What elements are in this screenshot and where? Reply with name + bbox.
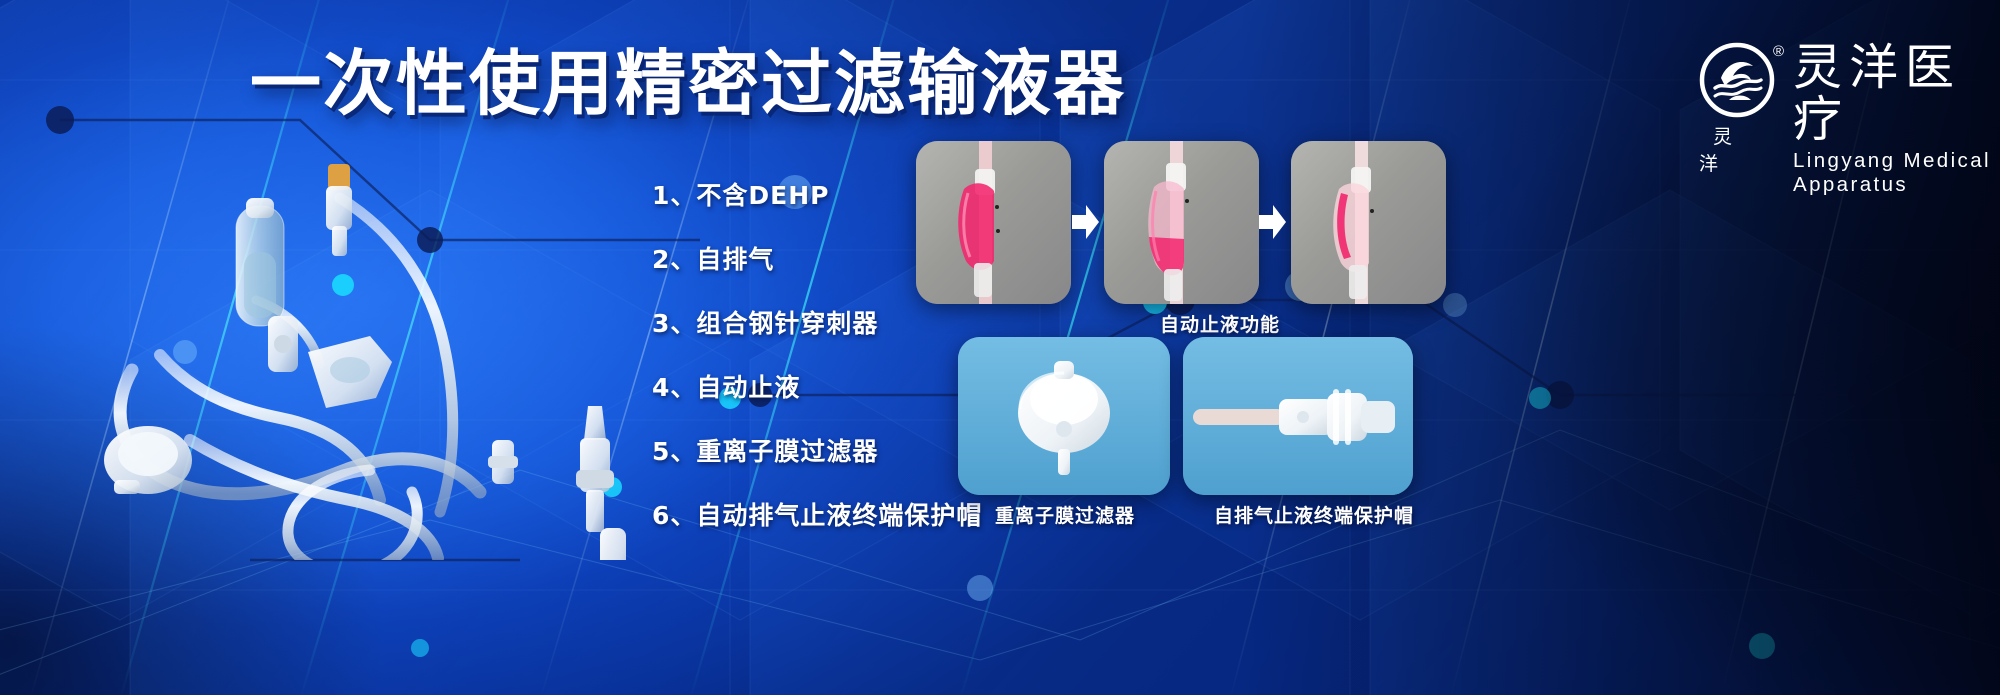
photo-ion-membrane-filter bbox=[958, 337, 1170, 495]
banner-title: 一次性使用精密过滤输液器 bbox=[250, 48, 1126, 119]
logo-text-block: 灵洋医疗 Lingyang Medical Apparatus bbox=[1793, 42, 2000, 197]
caption-terminal-protective-cap: 自排气止液终端保护帽 bbox=[1214, 501, 1414, 528]
photo-terminal-protective-cap bbox=[1183, 337, 1413, 495]
arrow-right-icon-2 bbox=[1259, 205, 1286, 239]
brand-logo: ® 灵洋 灵洋医疗 Lingyang Medical Apparatus bbox=[1699, 42, 2000, 197]
logo-mark-characters: 灵洋 bbox=[1699, 122, 1775, 176]
caption-ion-membrane-filter: 重离子膜过滤器 bbox=[995, 501, 1135, 528]
logo-mark: ® 灵洋 bbox=[1699, 42, 1775, 176]
feature-item-5: 5、重离子膜过滤器 bbox=[652, 432, 982, 468]
feature-item-6: 6、自动排气止液终端保护帽 bbox=[652, 496, 982, 532]
logo-emblem-icon bbox=[1699, 42, 1775, 118]
photo-drip-chamber-full bbox=[916, 141, 1071, 304]
logo-mark-char-right: 洋 bbox=[1699, 153, 1732, 175]
feature-item-4: 4、自动止液 bbox=[652, 368, 982, 404]
brand-name-en: Lingyang Medical Apparatus bbox=[1793, 149, 2000, 197]
registered-trademark-icon: ® bbox=[1773, 44, 1784, 59]
arrow-right-icon-1 bbox=[1072, 205, 1099, 239]
brand-name-cn: 灵洋医疗 bbox=[1793, 42, 2000, 146]
product-banner: 一次性使用精密过滤输液器 ® 灵洋 灵洋医疗 Lingyang Medical … bbox=[0, 0, 2000, 695]
photo-drip-chamber-draining bbox=[1104, 141, 1259, 304]
photo-drip-chamber-stopped bbox=[1291, 141, 1446, 304]
logo-mark-char-left: 灵 bbox=[1713, 126, 1746, 148]
feature-item-3: 3、组合钢针穿刺器 bbox=[652, 304, 982, 340]
infusion-set-product-image bbox=[40, 140, 680, 560]
caption-auto-stop-function: 自动止液功能 bbox=[1160, 310, 1280, 337]
